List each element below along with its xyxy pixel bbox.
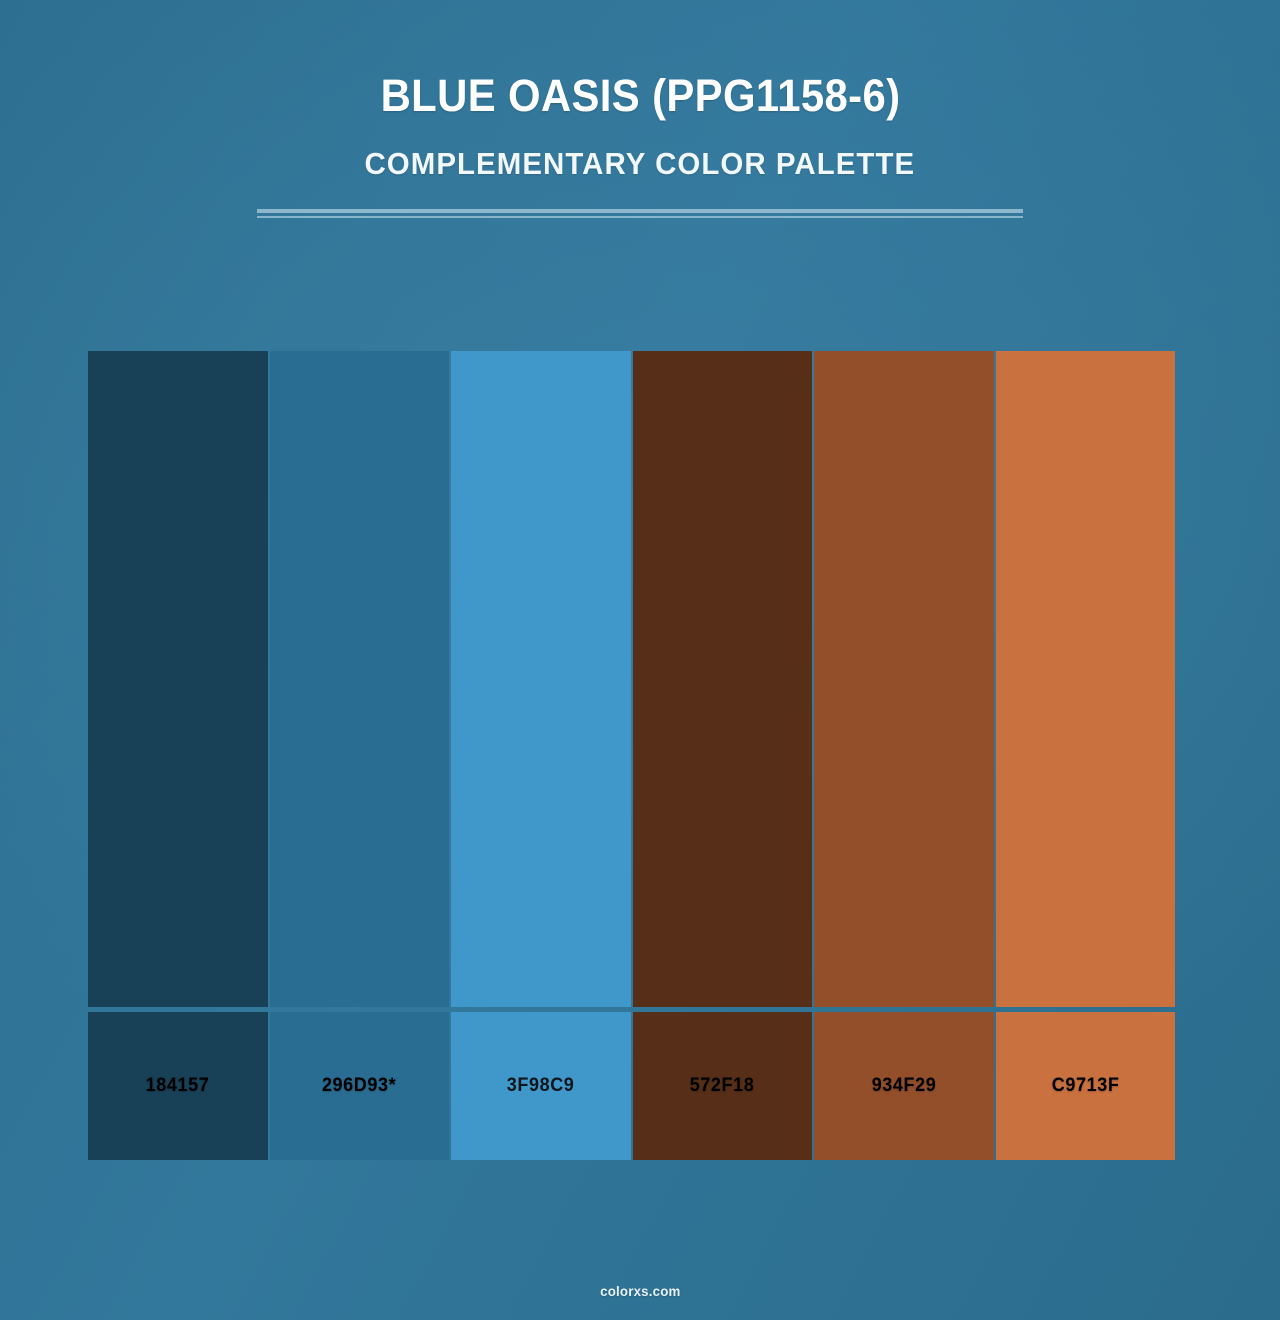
site-credit: colorxs.com <box>600 1283 680 1299</box>
color-swatch-bar[interactable] <box>633 351 813 1007</box>
color-hex-label: C9713F <box>1051 1075 1119 1097</box>
page-header: BLUE OASIS (PPG1158-6) COMPLEMENTARY COL… <box>0 0 1280 218</box>
page-footer: colorxs.com <box>0 1283 1280 1301</box>
color-swatch-label-cell[interactable]: 296D93* <box>270 1012 450 1160</box>
divider-rule-thin <box>257 216 1023 218</box>
page-subtitle: COMPLEMENTARY COLOR PALETTE <box>365 146 916 182</box>
color-hex-label: 572F18 <box>690 1075 755 1097</box>
color-swatch-bar[interactable] <box>814 351 994 1007</box>
divider-rule-thick <box>257 209 1023 213</box>
palette: 184157 296D93* 3F98C9 572F18 934F29 C971… <box>88 351 1175 1160</box>
color-swatch-label-cell[interactable]: C9713F <box>996 1012 1176 1160</box>
color-palette-page: BLUE OASIS (PPG1158-6) COMPLEMENTARY COL… <box>0 0 1280 1320</box>
color-swatch-label-cell[interactable]: 934F29 <box>814 1012 994 1160</box>
color-swatch-bar[interactable] <box>996 351 1176 1007</box>
color-swatch-bar[interactable] <box>451 351 631 1007</box>
color-swatch-label-cell[interactable]: 3F98C9 <box>451 1012 631 1160</box>
header-divider <box>257 209 1023 218</box>
color-hex-label: 934F29 <box>871 1075 936 1097</box>
color-hex-label: 184157 <box>146 1075 210 1097</box>
palette-labels-row: 184157 296D93* 3F98C9 572F18 934F29 C971… <box>88 1012 1175 1160</box>
color-swatch-label-cell[interactable]: 572F18 <box>633 1012 813 1160</box>
palette-bars-row <box>88 351 1175 1007</box>
color-swatch-bar[interactable] <box>270 351 450 1007</box>
color-hex-label: 3F98C9 <box>507 1075 575 1097</box>
page-title: BLUE OASIS (PPG1158-6) <box>380 72 900 119</box>
color-hex-label: 296D93* <box>322 1075 396 1097</box>
color-swatch-bar[interactable] <box>88 351 268 1007</box>
color-swatch-label-cell[interactable]: 184157 <box>88 1012 268 1160</box>
